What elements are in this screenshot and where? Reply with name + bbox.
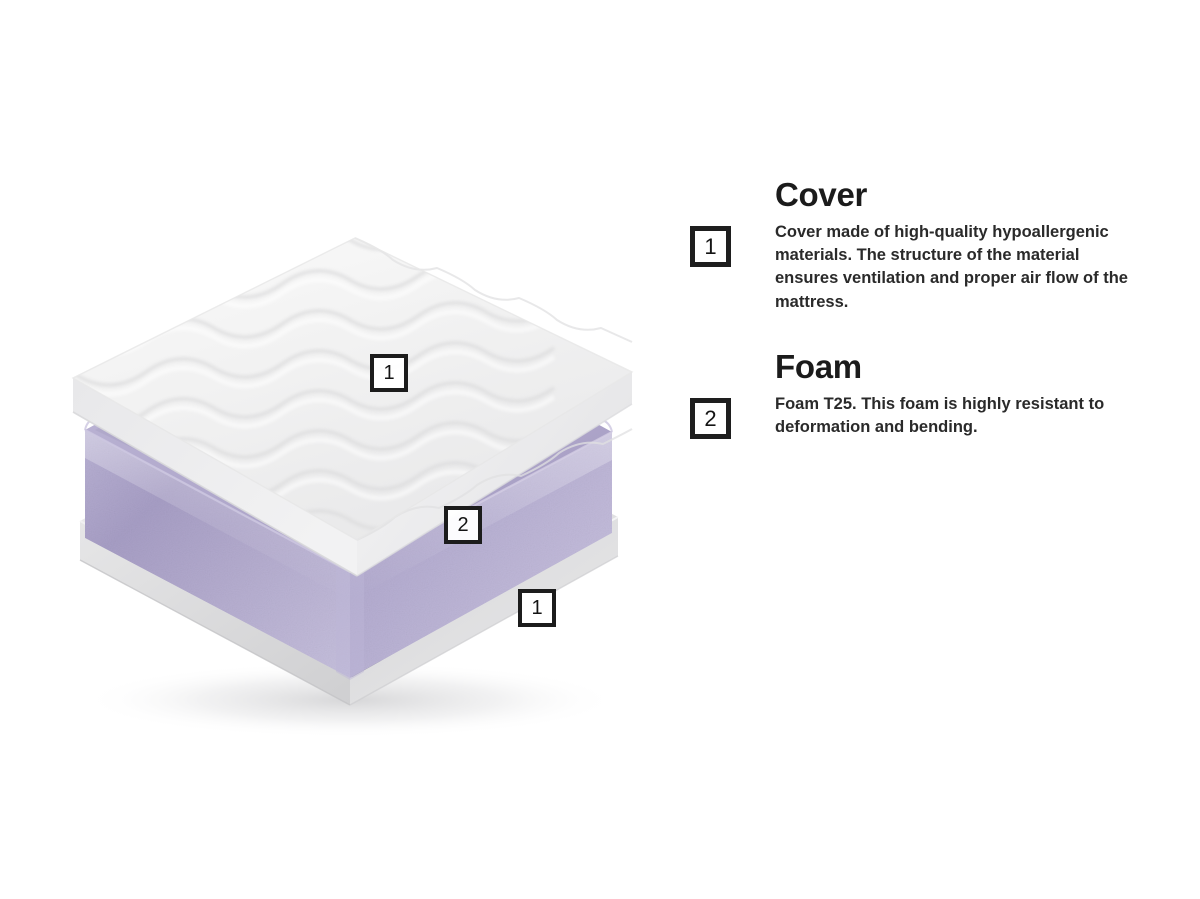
legend-badge-1: 1 [690, 226, 731, 267]
diagram-page: 1 2 1 1 Cover Cover made of high-quality… [0, 0, 1200, 899]
legend-badge-2: 2 [690, 398, 731, 439]
callout-badge-foam[interactable]: 2 [444, 506, 482, 544]
legend-text-foam: Foam Foam T25. This foam is highly resis… [775, 350, 1147, 439]
mattress-illustration: 1 2 1 [0, 0, 700, 899]
foam-front-corner-soft [336, 566, 364, 680]
callout-badge-cover[interactable]: 1 [370, 354, 408, 392]
legend-panel: 1 Cover Cover made of high-quality hypoa… [690, 178, 1160, 440]
legend-title-cover: Cover [775, 178, 1147, 213]
legend-description-cover: Cover made of high-quality hypoallergeni… [775, 221, 1147, 315]
legend-text-cover: Cover Cover made of high-quality hypoall… [775, 178, 1147, 314]
legend-item-cover[interactable]: 1 Cover Cover made of high-quality hypoa… [690, 178, 1160, 314]
callout-badge-base[interactable]: 1 [518, 589, 556, 627]
legend-title-foam: Foam [775, 350, 1147, 385]
legend-description-foam: Foam T25. This foam is highly resistant … [775, 393, 1147, 440]
legend-item-foam[interactable]: 2 Foam Foam T25. This foam is highly res… [690, 350, 1160, 439]
